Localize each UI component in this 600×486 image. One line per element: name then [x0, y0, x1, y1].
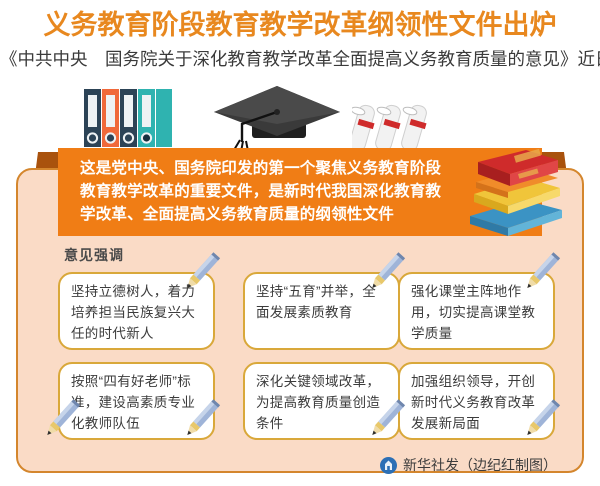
section-label: 意见强调 — [64, 245, 124, 265]
pencil-icon — [38, 396, 84, 442]
banner-line: 教育教学改革的重要文件，是新时代我国深化教育教 — [80, 180, 462, 203]
graduation-cap-icon — [212, 84, 342, 155]
binders-icon — [76, 83, 180, 158]
pencil-icon — [178, 249, 224, 295]
xinhua-logo-icon — [380, 457, 397, 474]
banner-line: 学改革、全面提高义务教育质量的纲领性文件 — [80, 203, 462, 226]
infographic-root: 义务教育阶段教育教学改革纲领性文件出炉 《中共中央 国务院关于深化教育教学改革全… — [0, 0, 600, 486]
credit-line: 新华社发（边纪红制图） — [380, 455, 557, 475]
pencil-icon — [363, 396, 409, 442]
page-subtitle: 《中共中央 国务院关于深化教育教学改革全面提高义务教育质量的意见》近日印发 — [0, 47, 600, 71]
stacked-books-icon — [468, 148, 564, 245]
page-title: 义务教育阶段教育教学改革纲领性文件出炉 — [0, 8, 600, 42]
banner-line: 这是党中央、国务院印发的第一个聚焦义务教育阶段 — [80, 157, 462, 180]
pencil-icon — [518, 249, 564, 295]
credit-text: 新华社发（边纪红制图） — [403, 455, 557, 475]
pencil-icon — [363, 249, 409, 295]
pencil-icon — [178, 396, 224, 442]
pencil-icon — [518, 396, 564, 442]
